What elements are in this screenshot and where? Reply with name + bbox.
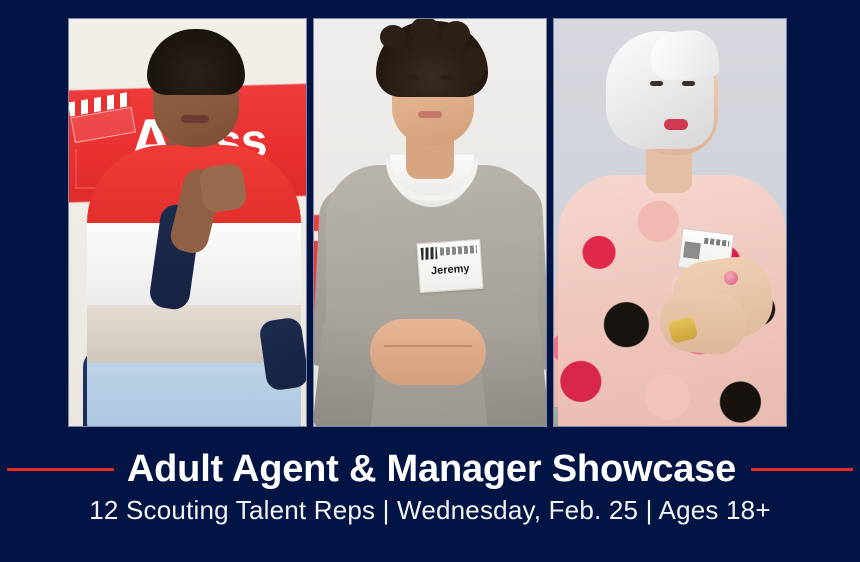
subject-eye-right [682,81,695,86]
name-tag-logo-icon [683,241,701,259]
subject-mouth [181,115,209,123]
photo-1-scene: A lass NING [69,19,306,426]
subject-eye-left [173,81,185,86]
photo-2-scene: Jeremy [314,19,545,426]
subject-hand-crease [384,345,472,347]
subject-hand [198,162,248,214]
photo-1: A lass NING [68,18,307,427]
title-row: Adult Agent & Manager Showcase [0,450,860,488]
subject-arm-left [314,316,382,426]
photo-2: Jeremy [313,18,546,427]
name-tag-header-text [440,245,477,256]
event-banner: A lass NING [0,0,860,562]
accent-rule-left [7,468,114,471]
subject-clasped-hands [370,319,486,385]
event-title: Adult Agent & Manager Showcase [127,450,736,488]
caption-block: Adult Agent & Manager Showcase 12 Scouti… [0,427,860,562]
subject-eye-right [205,81,217,86]
name-tag-header-text [704,238,730,247]
photo-3 [553,18,787,427]
subject-ring [724,271,738,285]
subject-mouth [418,111,442,118]
subject-mouth [664,119,688,130]
name-tag-logo-icon [421,247,438,260]
name-tag-name: Jeremy [419,262,482,278]
event-subtitle: 12 Scouting Talent Reps | Wednesday, Feb… [0,495,860,526]
subject-eye-right [440,75,453,80]
subject-arm-right [476,312,545,426]
photo-strip: A lass NING [68,18,787,427]
photo-3-scene [554,19,786,426]
subject-eye-left [650,81,663,86]
accent-rule-right [751,468,853,471]
subject-eye-left [406,75,419,80]
name-tag: Jeremy [417,239,484,293]
